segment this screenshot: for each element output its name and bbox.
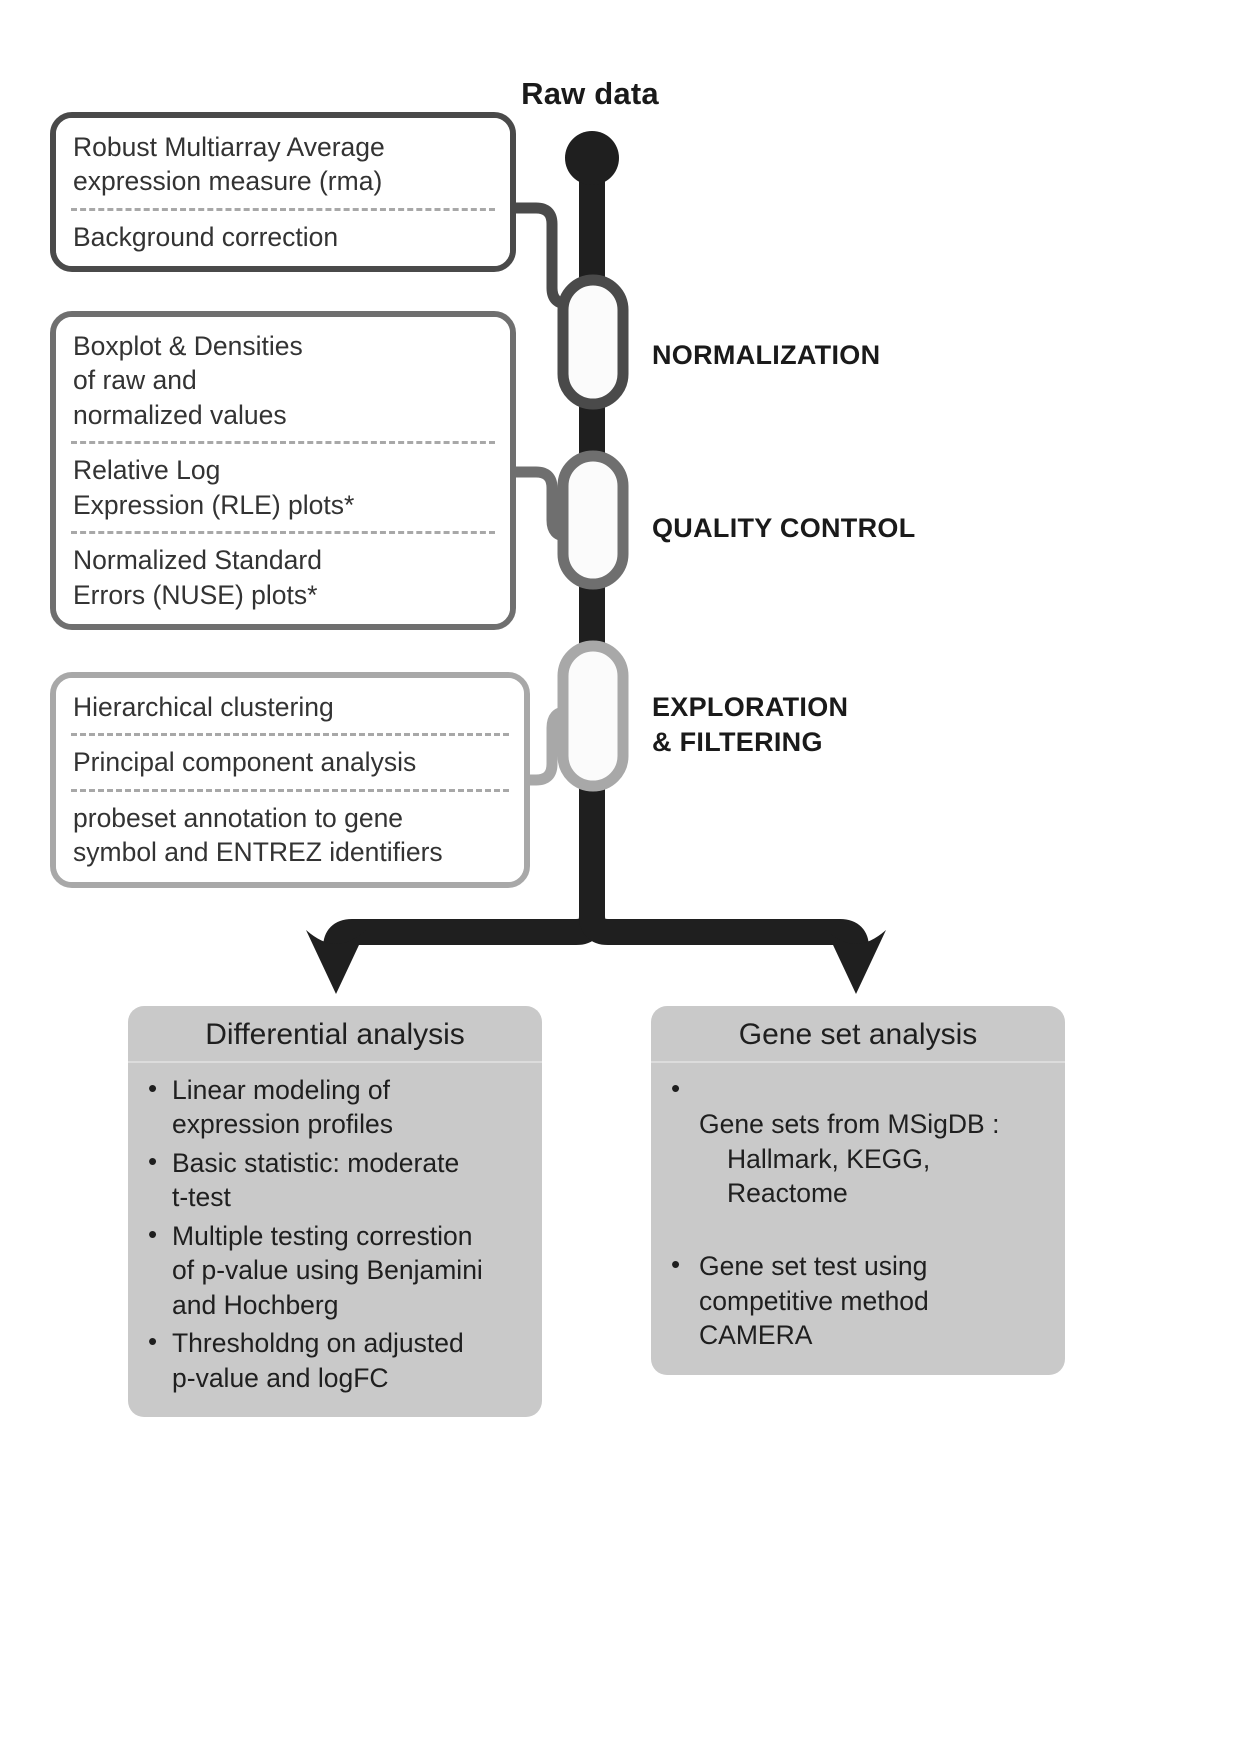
stage-row: Relative Log Expression (RLE) plots* xyxy=(71,441,495,531)
list-item: Basic statistic: moderate t-test xyxy=(142,1146,528,1215)
stage-box-exploration-filtering-inner: Hierarchical clustering Principal compon… xyxy=(56,678,524,882)
list-item: Linear modeling of expression profiles xyxy=(142,1073,528,1142)
list-item: Gene set test using competitive method C… xyxy=(665,1249,1051,1352)
stage-row: probeset annotation to gene symbol and E… xyxy=(71,789,509,879)
list-item: Multiple testing correstion of p-value u… xyxy=(142,1219,528,1322)
panel-bullet-list: Gene sets from MSigDB : Hallmark, KEGG, … xyxy=(651,1063,1065,1375)
raw-data-label: Raw data xyxy=(470,76,710,112)
stage-name-exploration-filtering: EXPLORATION & FILTERING xyxy=(652,690,848,760)
stage-row: Normalized Standard Errors (NUSE) plots* xyxy=(71,531,495,621)
list-item-continuation: Hallmark, KEGG, Reactome xyxy=(699,1142,1051,1211)
panel-gene-set-analysis[interactable]: Gene set analysis Gene sets from MSigDB … xyxy=(651,1006,1065,1375)
stage-box-quality-control[interactable]: Boxplot & Densities of raw and normalize… xyxy=(50,311,516,630)
stage-row: Principal component analysis xyxy=(71,733,509,788)
stage-row: Background correction xyxy=(71,208,495,263)
stage-row: Robust Multiarray Average expression mea… xyxy=(71,121,495,208)
stage-box-quality-control-inner: Boxplot & Densities of raw and normalize… xyxy=(56,317,510,624)
stage-row: Boxplot & Densities of raw and normalize… xyxy=(71,320,495,441)
list-item-text: Gene sets from MSigDB : xyxy=(699,1109,999,1139)
stage-box-normalization[interactable]: Robust Multiarray Average expression mea… xyxy=(50,112,516,272)
panel-title: Gene set analysis xyxy=(651,1006,1065,1063)
list-item: Thresholdng on adjusted p-value and logF… xyxy=(142,1326,528,1395)
panel-title: Differential analysis xyxy=(128,1006,542,1063)
panel-differential-analysis[interactable]: Differential analysis Linear modeling of… xyxy=(128,1006,542,1417)
stage-box-normalization-inner: Robust Multiarray Average expression mea… xyxy=(56,118,510,266)
panel-bullet-list: Linear modeling of expression profiles B… xyxy=(128,1063,542,1417)
list-item: Gene sets from MSigDB : Hallmark, KEGG, … xyxy=(665,1073,1051,1245)
stage-box-exploration-filtering[interactable]: Hierarchical clustering Principal compon… xyxy=(50,672,530,888)
stage-row: Hierarchical clustering xyxy=(71,681,509,733)
stage-name-quality-control: QUALITY CONTROL xyxy=(652,511,916,546)
stage-name-normalization: NORMALIZATION xyxy=(652,338,880,373)
